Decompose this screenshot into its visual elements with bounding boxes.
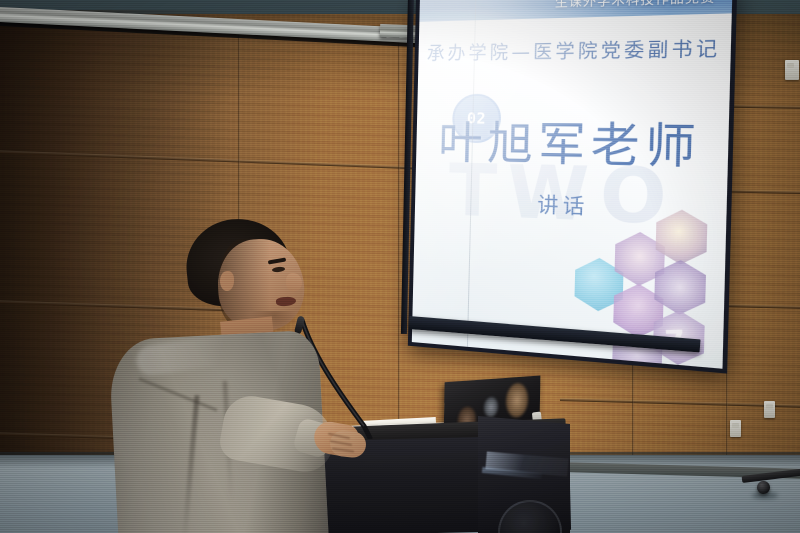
slide-banner-text: 生课外学术科技作品竞赛 [555, 0, 716, 11]
slide-subtitle: 承办学院—医学院党委副书记 [418, 33, 731, 65]
laptop-reflection [506, 382, 529, 418]
ear [220, 271, 234, 291]
wall-switch-plate [785, 60, 799, 80]
slide-speaker-name: 叶旭军老师 [416, 106, 729, 178]
wall-outlet-plate [730, 420, 741, 437]
wall-vertical-seam [398, 30, 400, 460]
slide-surface: 生课外学术科技作品竞赛 承办学院—医学院党委副书记 02 TWO 叶旭军老师 讲… [412, 0, 733, 369]
nose [286, 273, 302, 291]
laptop-reflection [484, 397, 498, 418]
speaker-person [100, 215, 360, 533]
projection-screen: 生课外学术科技作品竞赛 承办学院—医学院党委副书记 02 TWO 叶旭军老师 讲… [408, 0, 738, 374]
caster-wheel-icon [757, 481, 770, 494]
photo-scene: 生课外学术科技作品竞赛 承办学院—医学院党委副书记 02 TWO 叶旭军老师 讲… [0, 0, 800, 533]
slide-top-banner: 生课外学术科技作品竞赛 [419, 0, 732, 22]
wall-outlet-plate [764, 401, 775, 418]
